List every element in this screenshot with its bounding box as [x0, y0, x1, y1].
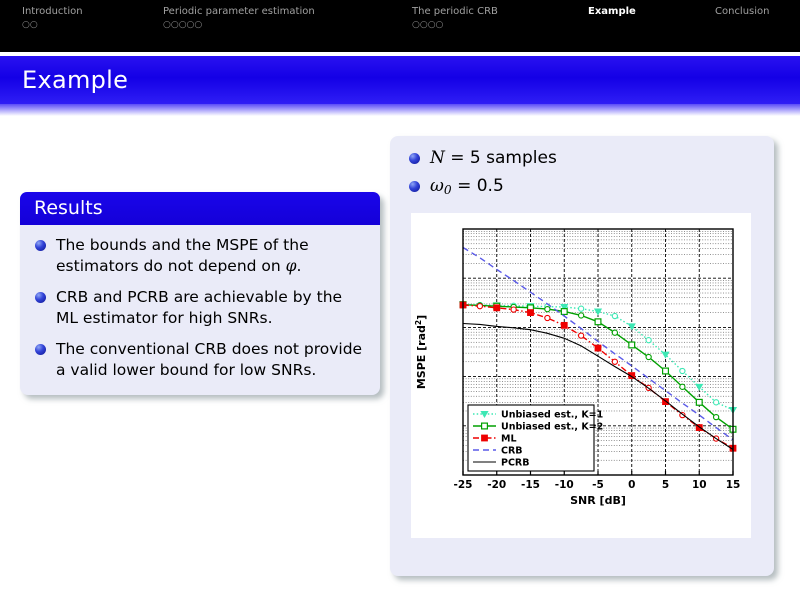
series-marker	[579, 306, 584, 311]
parameter-item: ω0 = 0.5	[404, 176, 774, 201]
series-marker	[595, 319, 601, 325]
legend-marker	[482, 423, 488, 429]
series-marker	[561, 309, 567, 315]
series-marker	[680, 384, 685, 389]
results-bullet-item: The conventional CRB does not provide a …	[30, 339, 364, 381]
bullet-ball-icon	[35, 292, 46, 303]
x-tick-label: 0	[628, 479, 635, 491]
parameter-item: N = 5 samples	[404, 148, 774, 169]
results-bullet-list: The bounds and the MSPE of the estimator…	[30, 235, 364, 381]
nav-section-dots[interactable]: ○○	[22, 19, 83, 32]
nav-section-label: Periodic parameter estimation	[163, 5, 315, 18]
x-tick-label: -5	[592, 479, 604, 491]
x-axis-label: SNR [dB]	[570, 494, 626, 507]
series-marker	[612, 330, 617, 335]
nav-section-dots[interactable]: ○○○○	[412, 19, 498, 32]
series-marker	[477, 304, 482, 309]
results-bullet-text: The bounds and the MSPE of the estimator…	[56, 236, 309, 275]
bullet-ball-icon	[35, 240, 46, 251]
series-marker	[612, 359, 617, 364]
parameter-symbol: ω	[430, 176, 444, 196]
legend-label: CRB	[501, 446, 523, 457]
legend-label: PCRB	[501, 458, 530, 469]
series-marker	[494, 305, 500, 311]
x-tick-label: -25	[454, 479, 473, 491]
series-marker	[561, 322, 567, 328]
y-axis-label: MSPE [rad2]	[414, 315, 428, 389]
bullet-ball-icon	[409, 153, 420, 164]
nav-section-conclusion[interactable]: Conclusion	[715, 5, 770, 19]
series-marker	[595, 345, 601, 351]
x-tick-label: 15	[726, 479, 741, 491]
legend-marker	[482, 435, 488, 441]
parameter-value: = 5 samples	[445, 148, 557, 168]
bullet-ball-icon	[35, 344, 46, 355]
series-marker	[545, 315, 550, 320]
x-tick-label: -10	[555, 479, 574, 491]
results-block-body: The bounds and the MSPE of the estimator…	[20, 225, 380, 395]
parameters-list: N = 5 samplesω0 = 0.5	[390, 136, 774, 214]
results-block: Results The bounds and the MSPE of the e…	[20, 192, 380, 395]
x-tick-label: 5	[662, 479, 669, 491]
series-marker	[579, 333, 584, 338]
parameter-symbol: N	[430, 148, 445, 168]
series-marker	[528, 310, 534, 316]
x-tick-label: 10	[692, 479, 707, 491]
nav-section-introduction[interactable]: Introduction○○	[22, 5, 83, 32]
page-title: Example	[22, 66, 128, 94]
x-tick-label: -20	[487, 479, 506, 491]
series-marker	[629, 342, 635, 348]
series-marker	[696, 399, 702, 405]
nav-section-label: Example	[588, 5, 636, 18]
parameter-subscript: 0	[444, 183, 452, 197]
series-marker	[612, 313, 617, 318]
nav-section-label: The periodic CRB	[412, 5, 498, 18]
nav-section-label: Introduction	[22, 5, 83, 18]
series-marker	[511, 307, 516, 312]
results-bullet-item: The bounds and the MSPE of the estimator…	[30, 235, 364, 277]
series-marker	[680, 368, 685, 373]
legend-label: Unbiased est., K=1	[501, 410, 603, 421]
results-bullet-text: CRB and PCRB are achievable by the ML es…	[56, 288, 342, 327]
nav-section-the-periodic-crb[interactable]: The periodic CRB○○○○	[412, 5, 498, 32]
series-marker	[579, 313, 584, 318]
series-marker	[545, 307, 550, 312]
series-marker	[646, 338, 651, 343]
nav-section-label: Conclusion	[715, 5, 770, 18]
nav-section-example[interactable]: Example	[588, 5, 636, 19]
results-bullet-item: CRB and PCRB are achievable by the ML es…	[30, 287, 364, 329]
phi-symbol: φ	[286, 257, 297, 275]
parameter-value: = 0.5	[452, 176, 504, 196]
results-block-title: Results	[20, 192, 380, 225]
chart-legend: Unbiased est., K=1Unbiased est., K=2MLCR…	[468, 405, 603, 471]
series-marker	[646, 354, 651, 359]
title-bar-fade	[0, 104, 800, 116]
nav-section-dots[interactable]: ○○○○○	[163, 19, 315, 32]
legend-label: Unbiased est., K=2	[501, 422, 603, 433]
series-marker	[714, 415, 719, 420]
nav-section-periodic-parameter-estimation[interactable]: Periodic parameter estimation○○○○○	[163, 5, 315, 32]
mspe-vs-snr-chart: -25-20-15-10-5051015SNR [dB]MSPE [rad2]U…	[411, 213, 751, 538]
legend-label: ML	[501, 434, 517, 445]
chart-container: -25-20-15-10-5051015SNR [dB]MSPE [rad2]U…	[411, 213, 751, 538]
series-marker	[663, 368, 669, 374]
bullet-ball-icon	[409, 181, 420, 192]
x-tick-label: -15	[521, 479, 540, 491]
slide-root: Introduction○○Periodic parameter estimat…	[0, 0, 800, 600]
navigation-bar: Introduction○○Periodic parameter estimat…	[0, 0, 800, 52]
results-bullet-text: The conventional CRB does not provide a …	[56, 340, 362, 379]
series-marker	[714, 400, 719, 405]
